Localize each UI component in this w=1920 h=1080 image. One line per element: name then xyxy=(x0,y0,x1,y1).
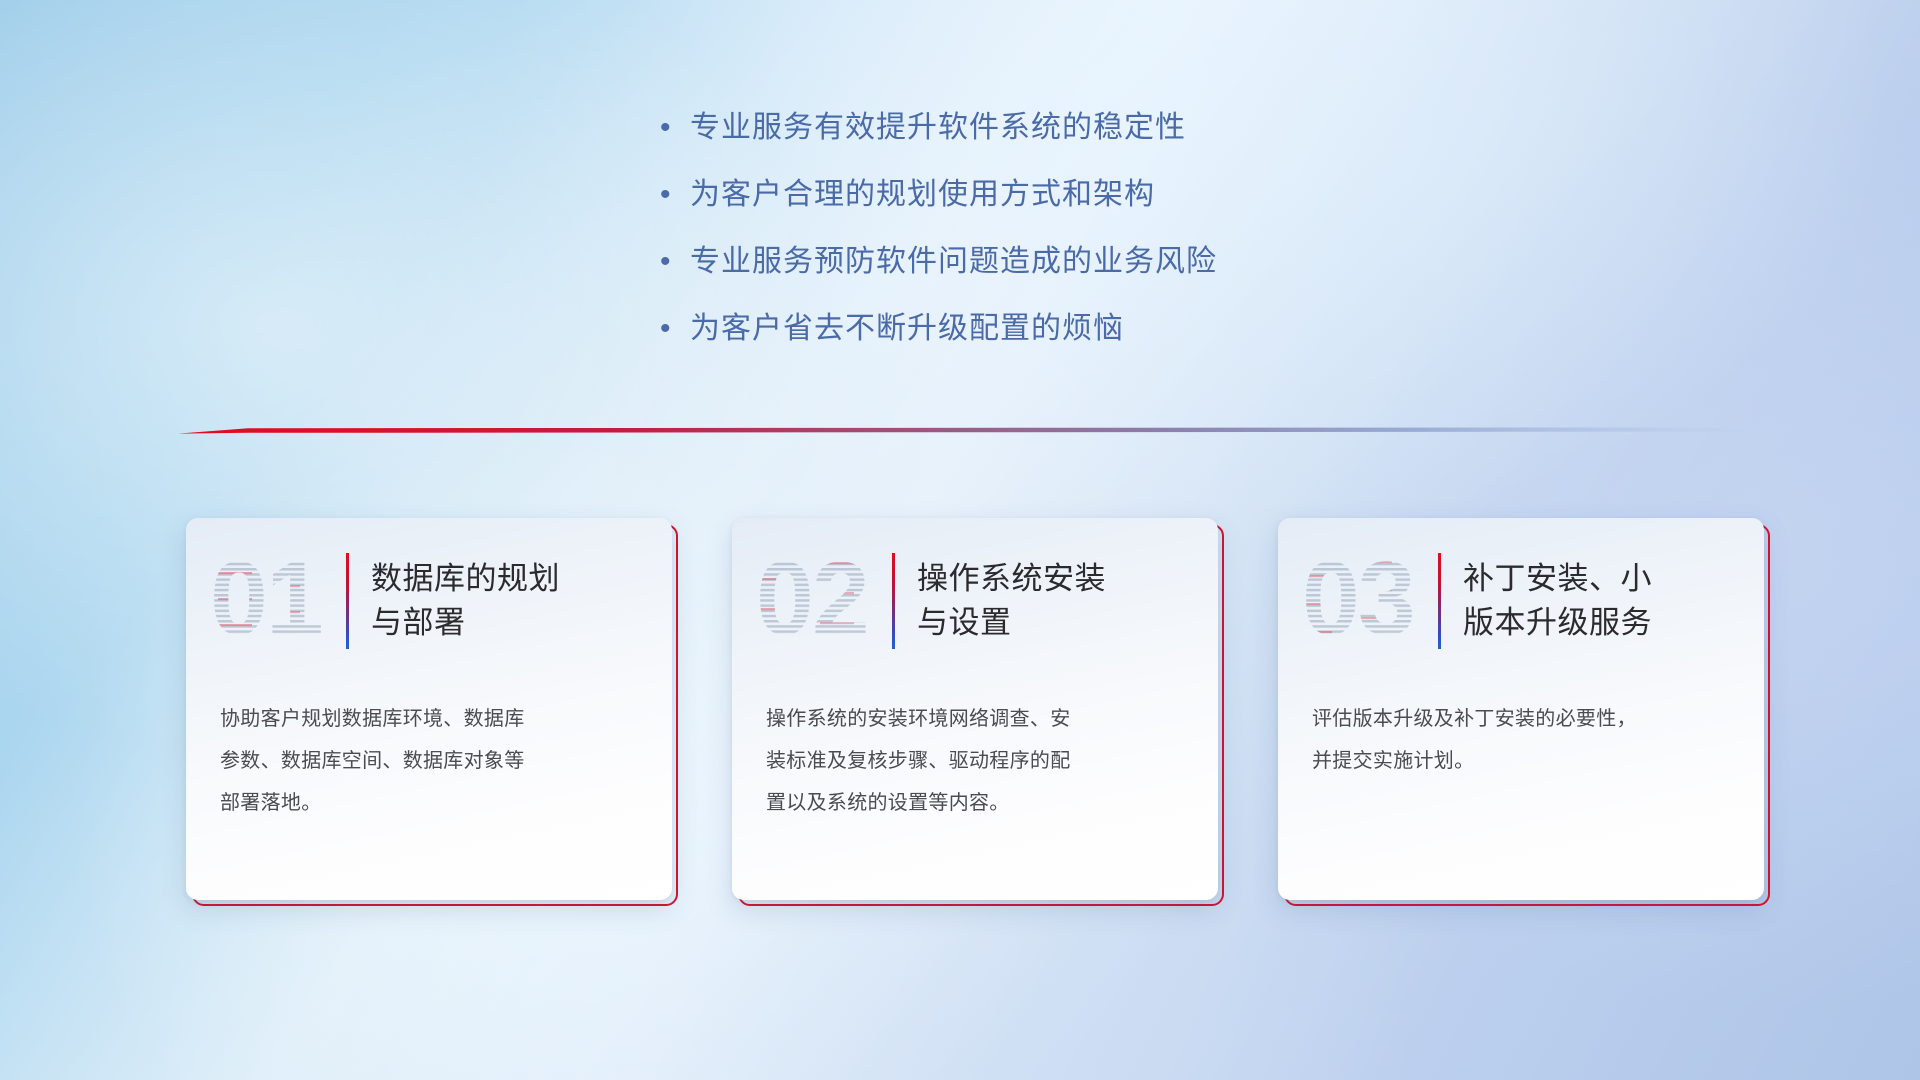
card-title-line-2: 版本升级服务 xyxy=(1463,601,1652,645)
card-header: 01 数据库的规划 与部署 xyxy=(186,518,672,684)
bullet-dot-icon: • xyxy=(660,175,690,215)
card-body-line-3: 置以及系统的设置等内容。 xyxy=(766,782,1182,824)
card-body-line-1: 协助客户规划数据库环境、数据库 xyxy=(220,698,636,740)
striped-number-glyph: 03 xyxy=(1300,542,1432,660)
card-number-striped-03-icon: 03 xyxy=(1300,542,1432,660)
card-title-line-2: 与设置 xyxy=(917,601,1106,645)
card-panel: 01 数据库的规划 与部署 xyxy=(186,518,672,900)
card-number-striped-02-icon: 02 xyxy=(754,542,886,660)
bullet-dot-icon: • xyxy=(660,108,690,148)
card-panel: 03 xyxy=(1278,518,1764,900)
bullet-text: 为客户省去不断升级配置的烦恼 xyxy=(690,309,1124,349)
bullet-dot-icon: • xyxy=(660,309,690,349)
card-body-line-2: 并提交实施计划。 xyxy=(1312,740,1728,782)
benefits-bullet-list: • 专业服务有效提升软件系统的稳定性 • 为客户合理的规划使用方式和架构 • 专… xyxy=(660,108,1480,376)
striped-number-glyph: 01 xyxy=(208,542,340,660)
list-item: • 专业服务有效提升软件系统的稳定性 xyxy=(660,108,1480,148)
card-number-striped-01-icon: 01 xyxy=(208,542,340,660)
bullet-text: 为客户合理的规划使用方式和架构 xyxy=(690,175,1155,215)
slide-root: • 专业服务有效提升软件系统的稳定性 • 为客户合理的规划使用方式和架构 • 专… xyxy=(0,0,1920,1080)
bullet-text: 专业服务预防软件问题造成的业务风险 xyxy=(690,242,1217,282)
card-title-accent-bar xyxy=(1438,553,1441,649)
card-body: 评估版本升级及补丁安装的必要性， 并提交实施计划。 xyxy=(1278,684,1764,782)
card-title-line-1: 数据库的规划 xyxy=(371,557,560,601)
tapered-rule-icon xyxy=(178,424,1758,438)
list-item: • 为客户合理的规划使用方式和架构 xyxy=(660,175,1480,215)
card-panel: 02 xyxy=(732,518,1218,900)
card-body-line-2: 参数、数据库空间、数据库对象等 xyxy=(220,740,636,782)
card-body: 操作系统的安装环境网络调查、安 装标准及复核步骤、驱动程序的配 置以及系统的设置… xyxy=(732,684,1218,824)
card-header: 03 xyxy=(1278,518,1764,684)
card-body-line-3: 部署落地。 xyxy=(220,782,636,824)
striped-number-glyph: 02 xyxy=(754,542,886,660)
card-body-line-1: 评估版本升级及补丁安装的必要性， xyxy=(1312,698,1728,740)
card-body-line-1: 操作系统的安装环境网络调查、安 xyxy=(766,698,1182,740)
service-card[interactable]: 01 数据库的规划 与部署 xyxy=(186,518,672,900)
card-title-accent-bar xyxy=(892,553,895,649)
card-title: 操作系统安装 与设置 xyxy=(917,557,1106,645)
card-title-line-2: 与部署 xyxy=(371,601,560,645)
card-title: 数据库的规划 与部署 xyxy=(371,557,560,645)
card-title: 补丁安装、小 版本升级服务 xyxy=(1463,557,1652,645)
card-title-line-1: 操作系统安装 xyxy=(917,557,1106,601)
service-card[interactable]: 03 xyxy=(1278,518,1764,900)
card-body: 协助客户规划数据库环境、数据库 参数、数据库空间、数据库对象等 部署落地。 xyxy=(186,684,672,824)
service-card[interactable]: 02 xyxy=(732,518,1218,900)
bullet-dot-icon: • xyxy=(660,242,690,282)
card-title-line-1: 补丁安装、小 xyxy=(1463,557,1652,601)
list-item: • 为客户省去不断升级配置的烦恼 xyxy=(660,309,1480,349)
list-item: • 专业服务预防软件问题造成的业务风险 xyxy=(660,242,1480,282)
service-card-list: 01 数据库的规划 与部署 xyxy=(186,518,1766,914)
card-header: 02 xyxy=(732,518,1218,684)
bullet-text: 专业服务有效提升软件系统的稳定性 xyxy=(690,108,1186,148)
card-title-accent-bar xyxy=(346,553,349,649)
card-body-line-2: 装标准及复核步骤、驱动程序的配 xyxy=(766,740,1182,782)
section-divider xyxy=(178,424,1758,438)
